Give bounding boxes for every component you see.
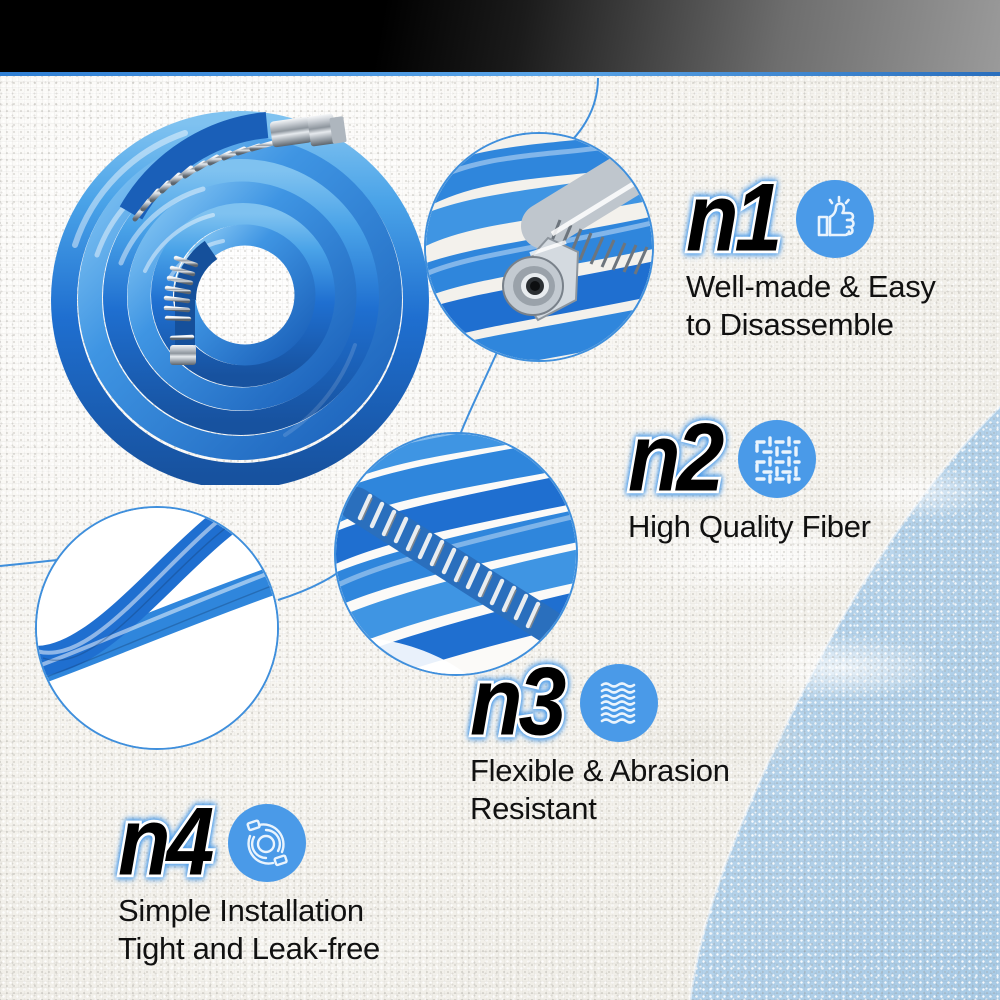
callout-bubble-spring-guard (334, 432, 578, 676)
product-feature-infographic: n1 Well-made & Easy to Disassemble n2 (0, 0, 1000, 1000)
feature-n1-badge: n1 (686, 173, 778, 264)
callout-bubble-fitting (424, 132, 654, 362)
feature-n3-header: n3 (470, 662, 730, 744)
feature-n2-badge: n2 (628, 413, 720, 504)
feature-item-n4: n4 Simple Installation Tight and Leak-fr… (118, 802, 380, 967)
feature-item-n2: n2 High Quality Fiber (628, 418, 871, 546)
callout-bubble-flexibility (35, 506, 279, 750)
feature-item-n3: n3 Flexible & Abrasion Resistant (470, 662, 730, 827)
header-accent-rule (0, 72, 1000, 76)
feature-n3-text: Flexible & Abrasion Resistant (470, 752, 730, 828)
feature-n4-header: n4 (118, 802, 380, 884)
wave-lines-icon (580, 664, 658, 742)
feature-n4-text: Simple Installation Tight and Leak-free (118, 892, 380, 968)
feature-n4-badge: n4 (118, 797, 210, 888)
feature-n2-text: High Quality Fiber (628, 508, 871, 546)
feature-n1-header: n1 (686, 178, 936, 260)
feature-n3-badge: n3 (470, 657, 562, 748)
thumbs-up-icon (796, 180, 874, 258)
feature-n1-text: Well-made & Easy to Disassemble (686, 268, 936, 344)
feature-n2-header: n2 (628, 418, 871, 500)
woven-fiber-icon (738, 420, 816, 498)
product-photo-coiled-hose (35, 95, 455, 485)
header-bar (0, 0, 1000, 72)
coiled-hose-icon (228, 804, 306, 882)
feature-item-n1: n1 Well-made & Easy to Disassemble (686, 178, 936, 343)
